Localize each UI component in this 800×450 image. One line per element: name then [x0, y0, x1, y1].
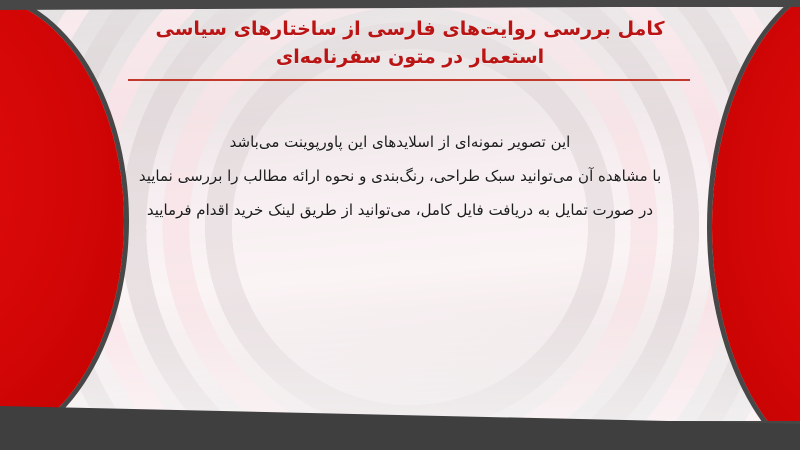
body-text-line-1: این تصویر نمونه‌ای از اسلایدهای این پاور… — [110, 125, 690, 159]
title-underline-rule — [128, 79, 690, 81]
presentation-slide: کامل بررسی روایت‌های فارسی از ساختارهای … — [0, 0, 800, 450]
slide-body-text: این تصویر نمونه‌ای از اسلایدهای این پاور… — [110, 125, 690, 227]
body-text-line-3: در صورت تمایل به دریافت فایل کامل، می‌تو… — [110, 193, 690, 227]
slide-content-plate: کامل بررسی روایت‌های فارسی از ساختارهای … — [0, 7, 800, 421]
slide-title-line-1: کامل بررسی روایت‌های فارسی از ساختارهای … — [120, 15, 700, 43]
slide-title-line-2: استعمار در متون سفرنامه‌ای — [120, 43, 700, 71]
slide-title: کامل بررسی روایت‌های فارسی از ساختارهای … — [120, 15, 700, 71]
body-text-line-2: با مشاهده آن می‌توانید سبک طراحی، رنگ‌بن… — [110, 159, 690, 193]
